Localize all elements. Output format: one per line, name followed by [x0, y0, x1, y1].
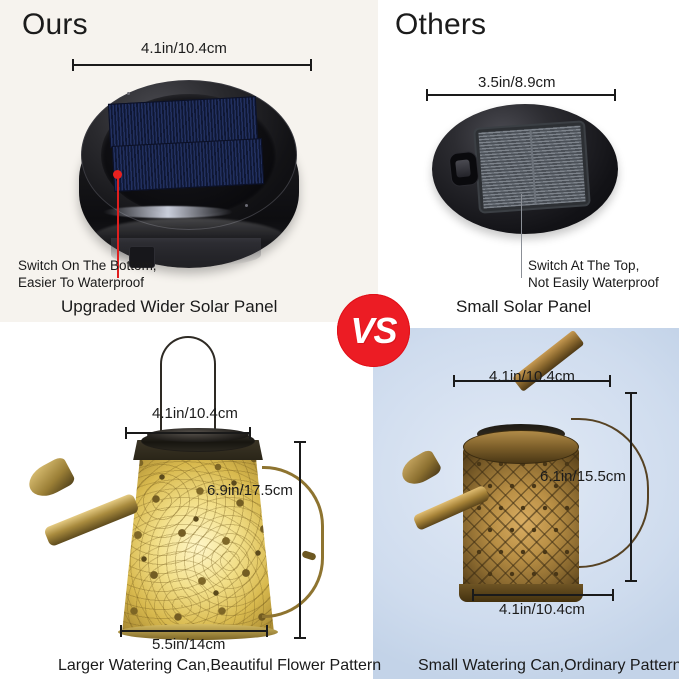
caption-ours-watering-can: Larger Watering Can,Beautiful Flower Pat…: [58, 657, 381, 675]
dimension-rule-ours-can-height: [299, 441, 301, 639]
solar-cell-others: [473, 120, 591, 214]
caption-others-solar-panel: Small Solar Panel: [456, 297, 591, 317]
product-image-others-solar-panel: [432, 104, 618, 234]
dimension-rule-others-can-top: [453, 380, 611, 382]
switch-knob-top: [455, 159, 471, 177]
side-handle-others: [571, 418, 649, 568]
annotation-others-line2: Not Easily Waterproof: [528, 275, 659, 291]
dimension-rule-others-panel-width: [426, 94, 616, 96]
dimension-rule-others-can-height: [630, 392, 632, 582]
dimension-label-others-can-height: 6.1in/15.5cm: [540, 468, 626, 485]
product-image-ours-watering-can: [14, 336, 344, 636]
caption-ours-solar-panel: Upgraded Wider Solar Panel: [61, 297, 277, 317]
product-image-others-watering-can: [415, 378, 665, 638]
dimension-label-others-panel-width: 3.5in/8.9cm: [478, 74, 556, 91]
dimension-label-ours-can-bottom: 5.5in/14cm: [152, 636, 225, 653]
dimension-label-ours-can-top: 4.1in/10.4cm: [152, 405, 238, 422]
dimension-rule-ours-can-bottom: [120, 630, 268, 632]
dimension-label-ours-panel-width: 4.1in/10.4cm: [141, 40, 227, 57]
dimension-label-others-can-bottom: 4.1in/10.4cm: [499, 601, 585, 618]
solar-cell-lower: [112, 138, 264, 192]
comparison-infographic: Ours Others 4.1in/10.4cm Switch On The B…: [0, 0, 679, 679]
annotation-ours-line1: Switch On The Bottom,: [18, 258, 157, 274]
dimension-rule-others-can-bottom: [472, 594, 614, 596]
dimension-rule-ours-can-top: [125, 432, 251, 434]
product-image-ours-solar-panel: [73, 78, 305, 274]
header-others: Others: [395, 8, 486, 42]
vs-badge: VS: [337, 294, 410, 367]
can-body-ours: [122, 441, 274, 633]
caption-others-watering-can: Small Watering Can,Ordinary Pattern: [418, 657, 679, 675]
can-lid-others: [463, 430, 579, 464]
hanging-handle: [160, 336, 216, 440]
leader-line-others-switch: [521, 194, 522, 278]
annotation-ours-line2: Easier To Waterproof: [18, 275, 144, 291]
annotation-others-line1: Switch At The Top,: [528, 258, 639, 274]
can-spout-ours: [43, 493, 140, 548]
dimension-label-others-can-top: 4.1in/10.4cm: [489, 368, 575, 385]
vs-badge-label: VS: [350, 310, 396, 352]
header-ours: Ours: [22, 8, 88, 42]
dimension-label-ours-can-height: 6.9in/17.5cm: [207, 482, 293, 499]
dimension-rule-ours-panel-width: [72, 64, 312, 66]
